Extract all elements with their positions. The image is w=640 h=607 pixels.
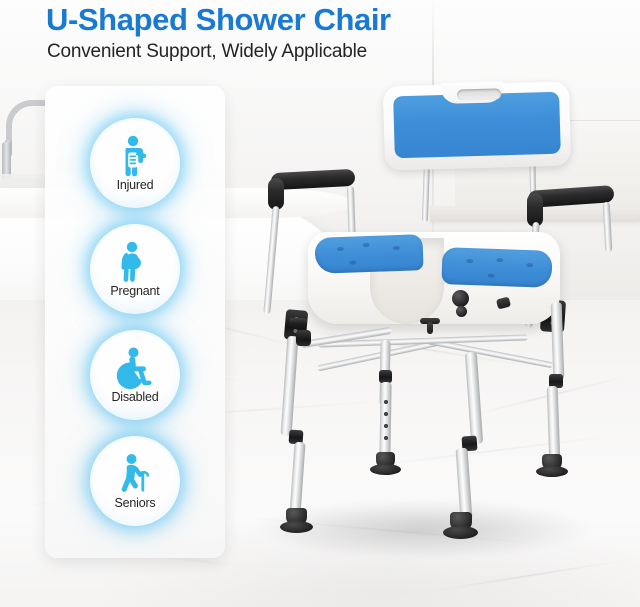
leg-rear-left-lower	[379, 382, 391, 460]
pregnant-person-icon	[115, 241, 155, 283]
seat-adjust-knob-center	[452, 290, 469, 307]
product-marketing-image: U-Shaped Shower Chair Convenient Support…	[0, 0, 640, 607]
seat-cushion-right	[441, 247, 552, 288]
seat-cushion-left	[314, 234, 423, 274]
seat-t-knob-stem	[427, 322, 433, 334]
rear-bar-clamp	[296, 330, 311, 346]
badge-seniors[interactable]: Seniors	[92, 438, 178, 524]
seat-t-knob-left	[289, 318, 307, 324]
leg-front-right-upper	[465, 352, 483, 445]
badge-pregnant[interactable]: Pregnant	[92, 226, 178, 312]
use-case-badge-list: Injured Pregnant Disabled	[45, 86, 225, 558]
backrest-carry-handle	[457, 88, 501, 100]
leg-front-left-foot-base	[280, 521, 313, 533]
backrest	[383, 81, 571, 170]
leg-front-right-foot-base	[443, 526, 478, 539]
use-cases-card: Injured Pregnant Disabled	[45, 86, 225, 558]
leg-rear-right-foot-base	[536, 466, 568, 477]
leg-rear-right-lower	[547, 386, 561, 462]
badge-injured[interactable]: Injured	[92, 120, 178, 206]
armrest-right-post-rear	[603, 202, 613, 252]
seat-adjust-knob-bolt	[456, 306, 467, 317]
leg-front-left-upper	[281, 336, 299, 437]
badge-disabled[interactable]: Disabled	[92, 332, 178, 418]
badge-injured-label: Injured	[117, 178, 154, 192]
wheelchair-icon	[114, 347, 156, 389]
page-title: U-Shaped Shower Chair	[46, 2, 391, 38]
senior-with-cane-icon	[115, 453, 155, 495]
page-subtitle: Convenient Support, Widely Applicable	[47, 41, 367, 63]
badge-seniors-label: Seniors	[115, 496, 156, 510]
injured-person-icon	[115, 135, 155, 177]
armrest-left-post-front	[263, 206, 279, 314]
leg-rear-left-foot-base	[370, 464, 401, 475]
badge-disabled-label: Disabled	[111, 390, 158, 404]
badge-pregnant-label: Pregnant	[110, 284, 159, 298]
